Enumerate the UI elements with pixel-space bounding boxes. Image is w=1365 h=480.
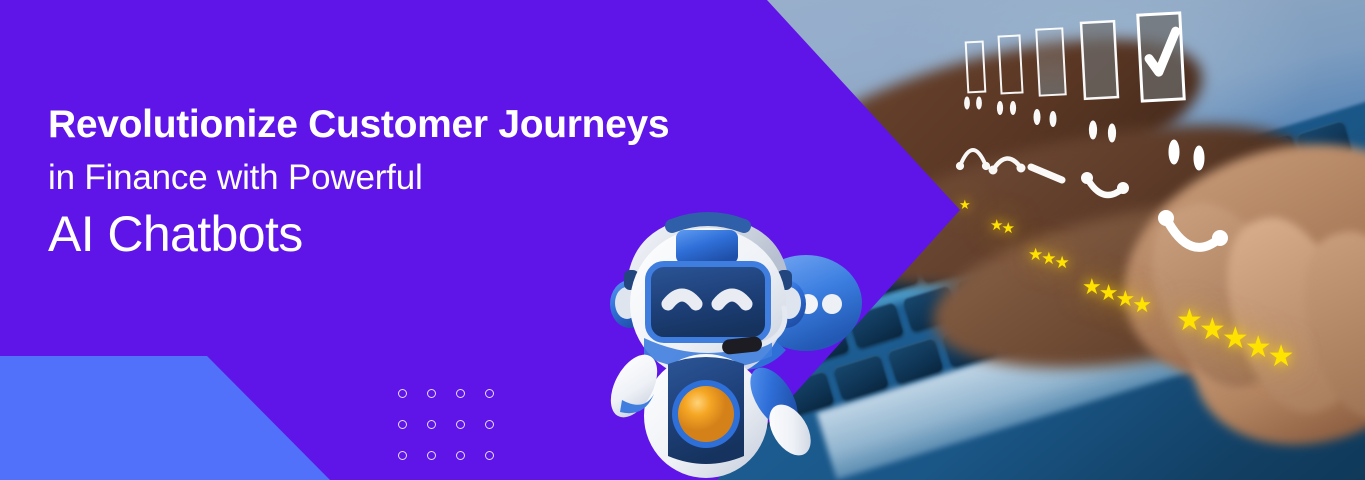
mouth-frown-deep xyxy=(960,150,986,166)
typing-dot xyxy=(822,294,842,314)
ai-chatbot-robot-mascot xyxy=(598,186,898,480)
rating-bar-4 xyxy=(1081,21,1118,99)
star-icon: ★ xyxy=(1001,221,1014,236)
face-happy xyxy=(1082,121,1129,195)
circle-outline-icon xyxy=(485,451,494,460)
star-icon: ★ xyxy=(1268,342,1295,372)
circle-outline-icon xyxy=(456,451,465,460)
circle-outline-icon xyxy=(398,451,407,460)
rating-bar-3 xyxy=(1036,28,1065,95)
circle-outline-icon xyxy=(427,389,436,398)
headline-line-3: AI Chatbots xyxy=(48,209,668,259)
star-rating-group-2: ★ ★ xyxy=(990,218,1015,236)
rating-bar-2 xyxy=(999,35,1023,93)
circle-outline-icon xyxy=(456,420,465,429)
face-sad xyxy=(989,102,1025,175)
mouth-flat xyxy=(1031,167,1062,180)
face-neutral xyxy=(1031,110,1062,181)
circle-outline-icon xyxy=(456,389,465,398)
star-rating-group-5: ★ ★ ★ ★ ★ xyxy=(1176,306,1295,372)
face-very-sad xyxy=(956,97,989,170)
circle-outline-icon xyxy=(398,420,407,429)
star-rating-group-4: ★ ★ ★ ★ xyxy=(1082,276,1152,316)
robot-core xyxy=(678,386,734,442)
star-rating-group-3: ★ ★ ★ xyxy=(1028,246,1070,271)
rating-bar-5 xyxy=(1138,13,1184,101)
star-rating-group-1: ★ xyxy=(959,198,971,211)
rating-bar-1 xyxy=(966,42,986,93)
decorative-dot-grid xyxy=(398,389,514,480)
circle-outline-icon xyxy=(485,420,494,429)
circle-outline-icon xyxy=(398,389,407,398)
headline-line-2: in Finance with Powerful xyxy=(48,160,668,195)
mouth-smile-big xyxy=(1166,218,1220,247)
circle-outline-icon xyxy=(427,420,436,429)
ai-chatbot-hero-banner: ★ ★ ★ ★ ★ ★ ★ ★ ★ ★ ★ ★ ★ ★ ★ Revolution… xyxy=(0,0,1365,480)
headline-block: Revolutionize Customer Journeys in Finan… xyxy=(48,105,668,259)
star-icon: ★ xyxy=(1055,254,1070,271)
circle-outline-icon xyxy=(485,389,494,398)
star-icon: ★ xyxy=(959,198,971,211)
face-very-happy xyxy=(1159,140,1228,247)
headline-line-1: Revolutionize Customer Journeys xyxy=(48,105,668,144)
robot-body xyxy=(644,354,768,478)
star-icon: ★ xyxy=(1132,294,1152,316)
circle-outline-icon xyxy=(427,451,436,460)
